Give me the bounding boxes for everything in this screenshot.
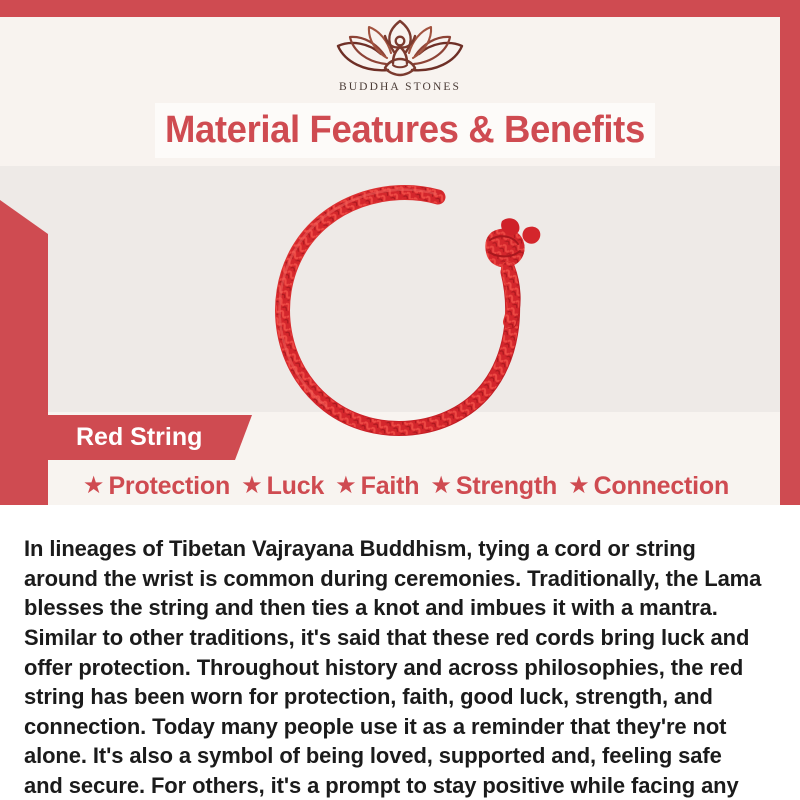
lotus-meditation-icon	[325, 18, 475, 80]
infographic-page: BUDDHA STONES Material Features & Benefi…	[0, 0, 800, 800]
feature-label: Luck	[267, 472, 325, 501]
feature-label: Strength	[456, 472, 557, 501]
brand-name: BUDDHA STONES	[339, 81, 461, 93]
red-braided-string-bracelet-image	[240, 172, 580, 444]
star-icon: ★	[430, 474, 452, 498]
star-icon: ★	[568, 474, 590, 498]
feature-label: Connection	[594, 472, 730, 501]
feature-list: ★ Protection ★ Luck ★ Faith ★ Strength ★…	[48, 468, 764, 504]
brand-logo: BUDDHA STONES	[322, 18, 478, 102]
feature-item-faith: ★ Faith	[335, 472, 419, 501]
page-title: Material Features & Benefits	[165, 109, 645, 152]
star-icon: ★	[241, 474, 263, 498]
feature-item-luck: ★ Luck	[241, 472, 324, 501]
feature-label: Faith	[361, 472, 420, 501]
star-icon: ★	[83, 474, 105, 498]
feature-item-strength: ★ Strength	[430, 472, 557, 501]
star-icon: ★	[335, 474, 357, 498]
feature-item-protection: ★ Protection	[83, 472, 230, 501]
page-title-band: Material Features & Benefits	[155, 103, 655, 158]
section-ribbon-label: Red String	[20, 423, 202, 452]
description-text: In lineages of Tibetan Vajrayana Buddhis…	[24, 534, 765, 800]
section-ribbon: Red String	[20, 415, 252, 460]
feature-item-connection: ★ Connection	[568, 472, 729, 501]
right-accent-strip	[780, 17, 800, 505]
top-accent-bar	[0, 0, 800, 17]
feature-label: Protection	[108, 472, 230, 501]
